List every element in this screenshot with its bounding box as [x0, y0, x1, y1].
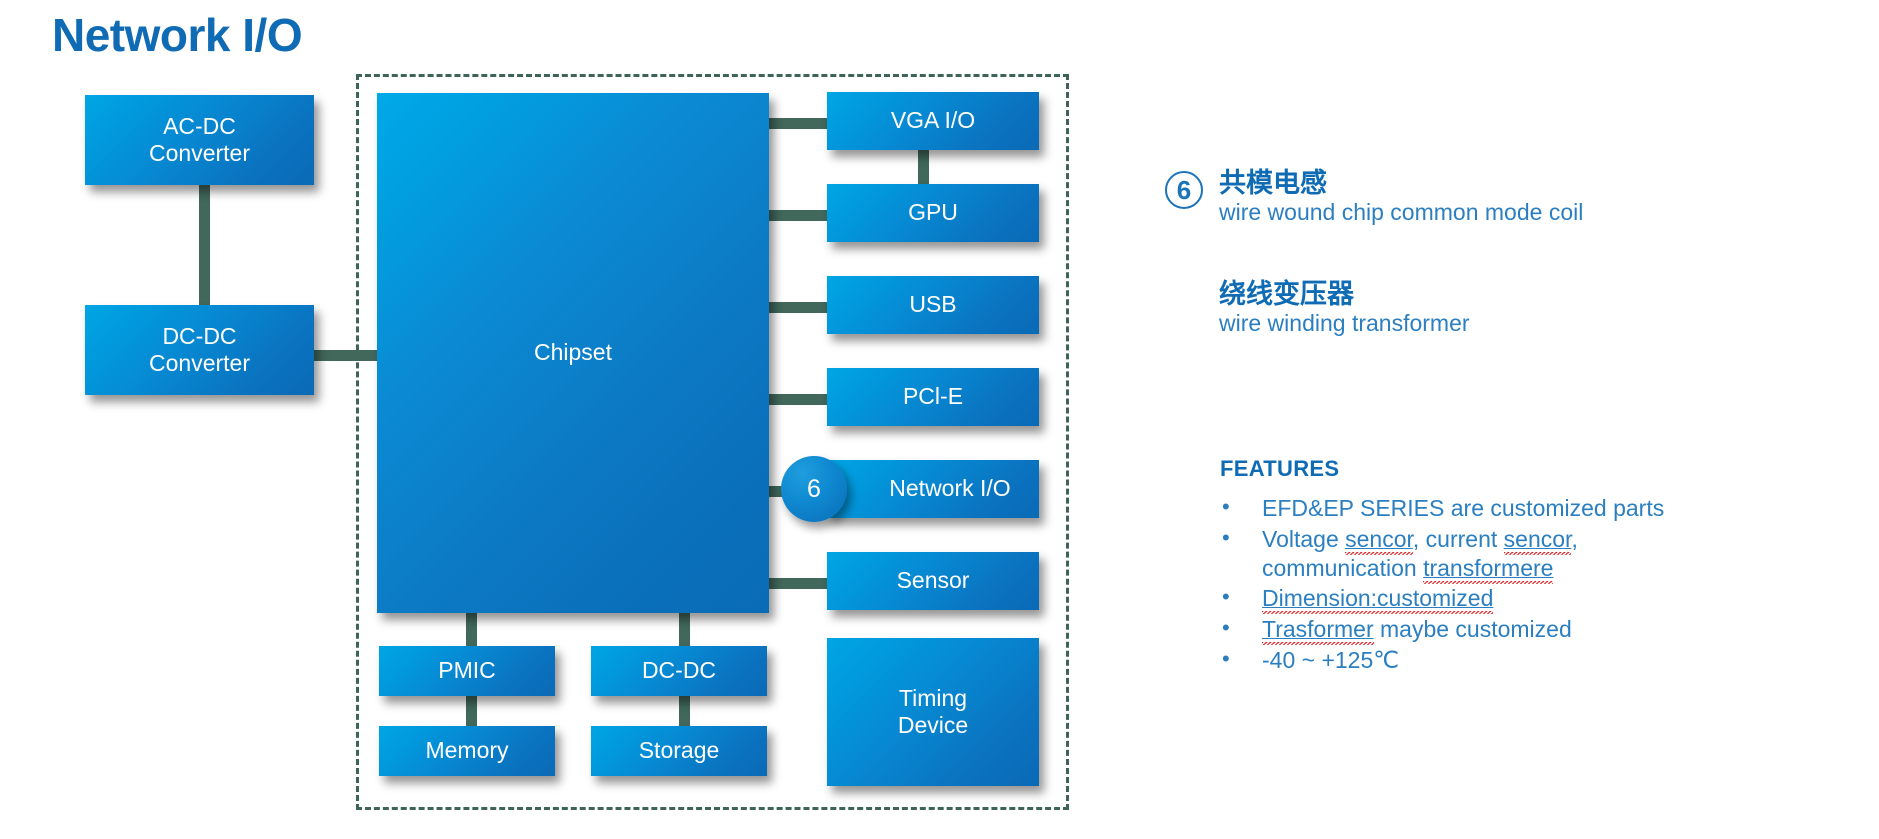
- connector-chipset-to-usb: [767, 302, 835, 313]
- block-network-io[interactable]: Network I/O: [827, 460, 1039, 518]
- feature-item: Trasformer maybe customized: [1220, 615, 1860, 644]
- info-item-common-mode-coil: 6 共模电感 wire wound chip common mode coil: [1165, 168, 1855, 227]
- features-list: EFD&EP SERIES are customized parts Volta…: [1220, 494, 1860, 675]
- block-timing-device[interactable]: TimingDevice: [827, 638, 1039, 786]
- connector-chipset-to-pcie: [767, 394, 835, 405]
- info-item-number-circle: 6: [1165, 171, 1203, 209]
- block-chipset-label: Chipset: [528, 339, 618, 366]
- block-ac-dc-converter[interactable]: AC-DCConverter: [85, 95, 314, 185]
- block-dc-dc-label: DC-DC: [636, 657, 722, 684]
- feature-item: Voltage sencor, current sencor,communica…: [1220, 525, 1860, 583]
- feature-item-text: EFD&EP SERIES are customized parts: [1262, 495, 1664, 521]
- block-vga-io[interactable]: VGA I/O: [827, 92, 1039, 150]
- block-dc-dc-converter[interactable]: DC-DCConverter: [85, 305, 314, 395]
- block-sensor-label: Sensor: [891, 567, 976, 594]
- info-item-2-cn-title: 绕线变压器: [1219, 279, 1855, 309]
- connector-chipset-to-dcdc-bottom: [679, 608, 690, 648]
- block-storage-label: Storage: [633, 737, 726, 764]
- block-pmic[interactable]: PMIC: [379, 646, 555, 696]
- block-gpu[interactable]: GPU: [827, 184, 1039, 242]
- feature-item-text: Trasformer maybe customized: [1262, 616, 1572, 645]
- block-pci-e-label: PCl-E: [897, 383, 969, 410]
- info-item-cn-title: 共模电感: [1219, 168, 1855, 198]
- block-pci-e[interactable]: PCl-E: [827, 368, 1039, 426]
- block-memory[interactable]: Memory: [379, 726, 555, 776]
- feature-item: -40 ~ +125℃: [1220, 646, 1860, 675]
- block-network-io-label: Network I/O: [883, 475, 1016, 502]
- block-storage[interactable]: Storage: [591, 726, 767, 776]
- connector-chipset-to-vga: [767, 118, 835, 129]
- block-timing-device-label: TimingDevice: [892, 685, 974, 739]
- info-panel: 6 共模电感 wire wound chip common mode coil …: [1165, 168, 1855, 338]
- feature-item-text: -40 ~ +125℃: [1262, 647, 1399, 673]
- callout-badge-6[interactable]: 6: [781, 456, 847, 522]
- block-gpu-label: GPU: [902, 199, 964, 226]
- block-memory-label: Memory: [419, 737, 514, 764]
- block-chipset[interactable]: Chipset: [377, 93, 769, 613]
- block-dc-dc-converter-label: DC-DCConverter: [143, 323, 256, 377]
- features-block: FEATURES EFD&EP SERIES are customized pa…: [1220, 456, 1860, 677]
- feature-item: EFD&EP SERIES are customized parts: [1220, 494, 1860, 523]
- info-item-2-en-subtitle: wire winding transformer: [1219, 309, 1855, 338]
- connector-chipset-to-gpu: [767, 210, 835, 221]
- connector-chipset-to-pmic: [466, 608, 477, 648]
- features-heading: FEATURES: [1220, 456, 1860, 482]
- block-usb[interactable]: USB: [827, 276, 1039, 334]
- block-usb-label: USB: [903, 291, 962, 318]
- block-vga-io-label: VGA I/O: [885, 107, 981, 134]
- page-title: Network I/O: [52, 8, 302, 62]
- info-item-en-subtitle: wire wound chip common mode coil: [1219, 198, 1855, 227]
- block-dc-dc[interactable]: DC-DC: [591, 646, 767, 696]
- feature-item-text: Dimension:customized: [1262, 585, 1493, 614]
- connector-acdc-to-dcdc: [199, 185, 210, 305]
- feature-item: Dimension:customized: [1220, 584, 1860, 613]
- info-item-wire-winding-transformer: 绕线变压器 wire winding transformer: [1219, 279, 1855, 338]
- connector-chipset-to-sensor: [767, 578, 835, 589]
- block-pmic-label: PMIC: [432, 657, 502, 684]
- feature-item-text: Voltage sencor, current sencor,communica…: [1262, 526, 1578, 584]
- block-ac-dc-converter-label: AC-DCConverter: [143, 113, 256, 167]
- block-sensor[interactable]: Sensor: [827, 552, 1039, 610]
